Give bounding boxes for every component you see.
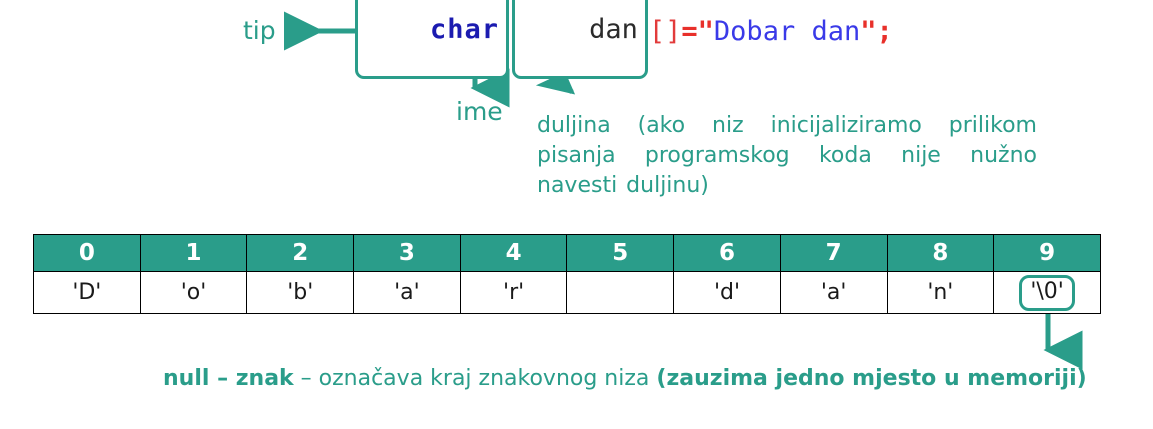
value-cell-1: 'o': [140, 272, 247, 314]
char-array-table: 0 1 2 3 4 5 6 7 8 9 'D' 'o' 'b' 'a' 'r' …: [33, 234, 1101, 314]
caption-middle: – označava kraj znakovnog niza: [294, 366, 657, 391]
value-text-2: 'b': [287, 282, 313, 304]
value-cell-4: 'r': [460, 272, 567, 314]
index-cell-4: 4: [460, 235, 567, 272]
value-cell-9-nullchar: '\0': [994, 272, 1101, 314]
value-text-6: 'd': [714, 282, 740, 304]
annotation-label-ime: ime: [456, 99, 503, 124]
index-cell-6: 6: [674, 235, 781, 272]
string-literal: Dobar dan: [714, 16, 860, 47]
value-cell-5: [567, 272, 674, 314]
statement-semicolon: ;: [877, 16, 893, 47]
value-cell-6: 'd': [674, 272, 781, 314]
annotation-label-tip: tip: [243, 18, 276, 43]
value-cell-2: 'b': [247, 272, 354, 314]
annotation-label-duljina: duljina (ako niz inicijaliziramo priliko…: [537, 111, 1037, 201]
array-brackets: []: [649, 16, 682, 47]
value-text-8: 'n': [927, 282, 953, 304]
table-value-row: 'D' 'o' 'b' 'a' 'r' 'd' 'a' 'n' '\0': [34, 272, 1101, 314]
char-keyword-box: char: [355, 0, 509, 79]
value-cell-7: 'a': [780, 272, 887, 314]
index-cell-0: 0: [34, 235, 141, 272]
value-cell-3: 'a': [354, 272, 461, 314]
identifier-dan: dan: [589, 14, 638, 45]
caption-bold-tail: (zauzima jedno mjesto u memoriji): [656, 366, 1086, 391]
value-text-4: 'r': [503, 282, 524, 304]
keyword-char: char: [430, 14, 499, 45]
index-cell-2: 2: [247, 235, 354, 272]
index-cell-9: 9: [994, 235, 1101, 272]
code-declaration-line: char dan [] = " Dobar dan " ;: [355, 8, 893, 54]
close-quote: ": [860, 16, 876, 47]
open-quote: ": [698, 16, 714, 47]
index-cell-8: 8: [887, 235, 994, 272]
value-text-3: 'a': [394, 282, 420, 304]
index-cell-7: 7: [780, 235, 887, 272]
null-char-caption: null – znak – označava kraj znakovnog ni…: [163, 366, 1087, 391]
index-cell-5: 5: [567, 235, 674, 272]
value-cell-8: 'n': [887, 272, 994, 314]
table-header-row: 0 1 2 3 4 5 6 7 8 9: [34, 235, 1101, 272]
caption-bold-lead: null – znak: [163, 366, 294, 391]
value-text-0: 'D': [72, 282, 101, 304]
index-cell-3: 3: [354, 235, 461, 272]
value-text-7: 'a': [821, 282, 847, 304]
index-cell-1: 1: [140, 235, 247, 272]
value-text-9: '\0': [1019, 275, 1075, 311]
value-text-1: 'o': [181, 282, 207, 304]
identifier-name-box: dan: [512, 0, 648, 79]
value-cell-0: 'D': [34, 272, 141, 314]
assignment-operator: =: [681, 16, 697, 47]
